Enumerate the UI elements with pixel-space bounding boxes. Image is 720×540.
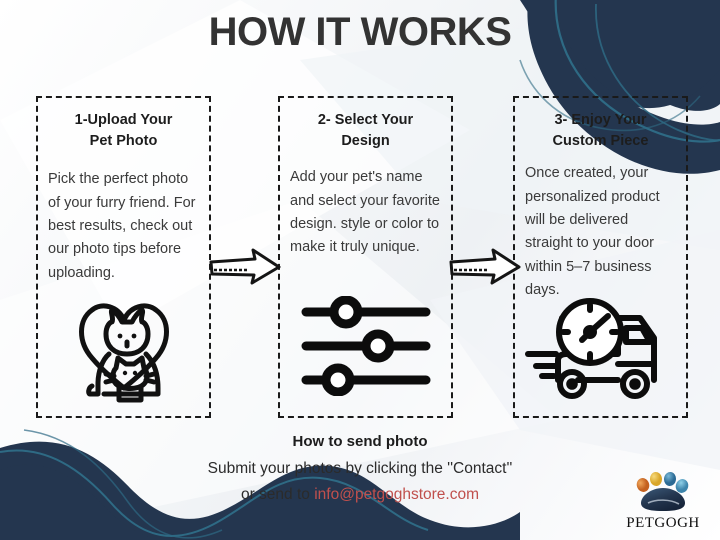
- dog-cat-heart-icon: [38, 296, 209, 408]
- contact-email-link[interactable]: info@petgoghstore.com: [314, 486, 479, 503]
- arrow-right-icon: [208, 248, 282, 293]
- infographic-canvas: HOW IT WORKS 1-Upload Your Pet Photo Pic…: [0, 0, 720, 540]
- step-heading: 3- Enjoy Your Custom Piece: [525, 110, 676, 152]
- sliders-icon: [280, 296, 451, 396]
- step-heading: 2- Select Your Design: [290, 110, 441, 152]
- step-heading: 1-Upload Your Pet Photo: [48, 110, 199, 152]
- arrow-right-icon: [448, 248, 522, 293]
- delivery-truck-clock-icon: [515, 298, 686, 402]
- step-card-select-design: 2- Select Your Design Add your pet's nam…: [278, 96, 453, 418]
- footer-email-line: or send to info@petgoghstore.com: [0, 482, 720, 507]
- footer-contact-block: How to send photo Submit your photos by …: [0, 430, 720, 507]
- page-title: HOW IT WORKS: [0, 10, 720, 55]
- footer-heading: How to send photo: [0, 430, 720, 453]
- step-body: Pick the perfect photo of your furry fri…: [48, 168, 199, 285]
- footer-instruction-line: Submit your photos by clicking the ''Con…: [0, 456, 720, 481]
- footer-email-prefix: or send to: [241, 486, 314, 503]
- step-body: Once created, your personalized product …: [525, 162, 676, 303]
- paw-print-icon: [632, 472, 694, 512]
- step-card-enjoy-custom-piece: 3- Enjoy Your Custom Piece Once created,…: [513, 96, 688, 418]
- step-card-upload-photo: 1-Upload Your Pet Photo Pick the perfect…: [36, 96, 211, 418]
- logo-wordmark: PETGOGH: [620, 515, 706, 532]
- step-body: Add your pet's name and select your favo…: [290, 166, 441, 260]
- brand-logo: PETGOGH: [620, 472, 706, 532]
